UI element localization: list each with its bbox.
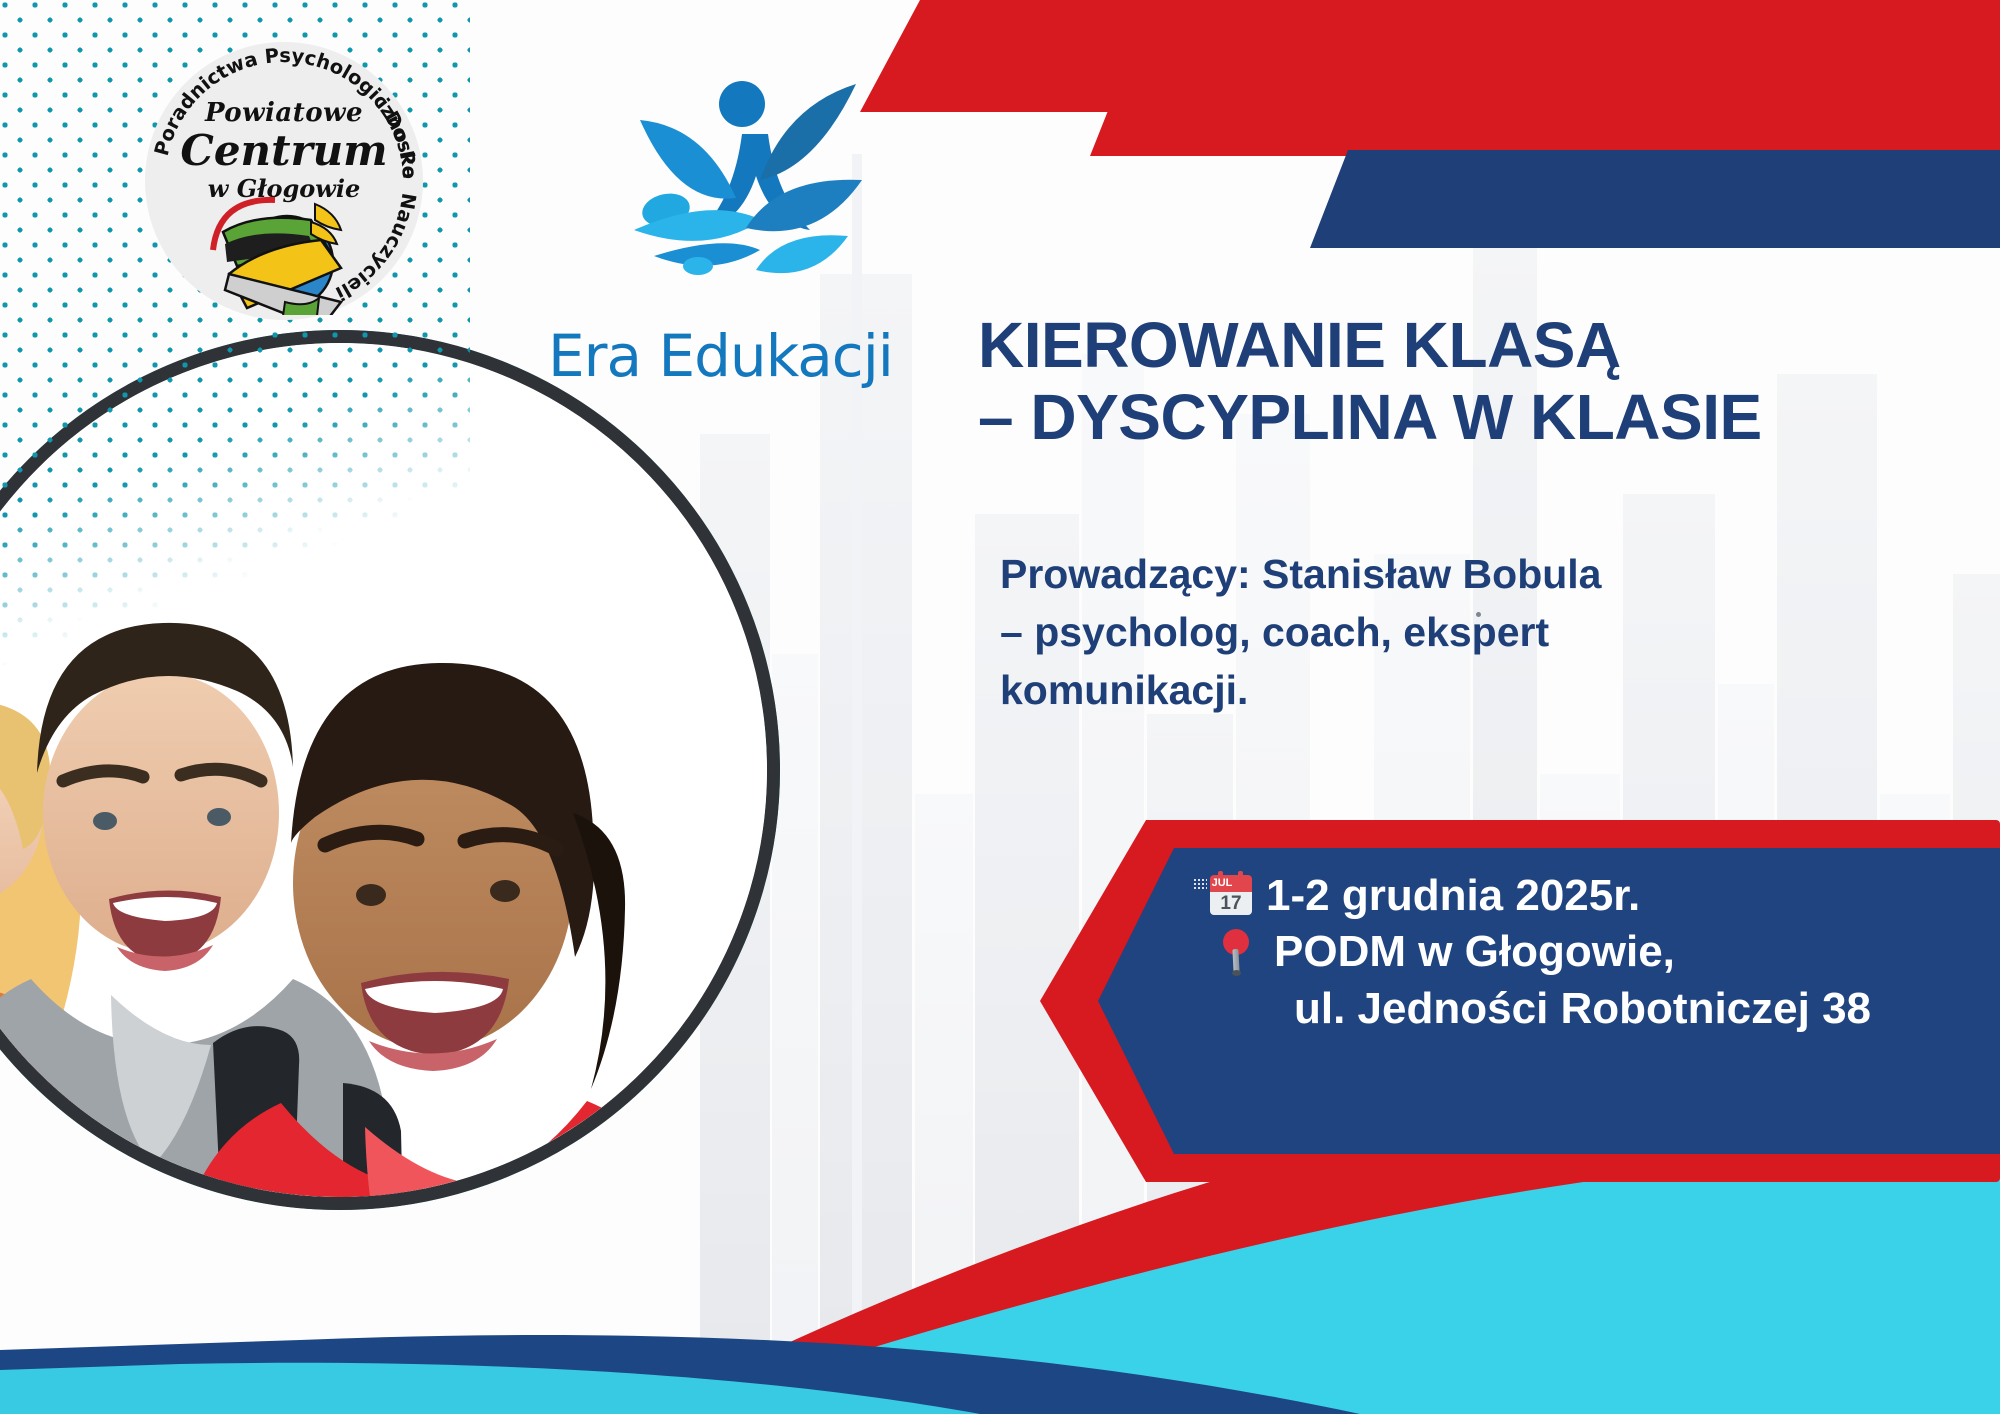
presenter-line-2: – psycholog, coach, ekspert (1000, 603, 1700, 661)
decorative-dot (1476, 612, 1481, 617)
details-content: JUL 17 1-2 grudnia 2025r. PODM w Głogowi… (1098, 868, 1978, 1037)
calendar-icon-month: JUL (1210, 875, 1234, 892)
pcppidn-seal: Poradnictwa Psychologiczno-Pedagogiczneg… (145, 42, 423, 320)
poster-canvas: Poradnictwa Psychologiczno-Pedagogiczneg… (0, 0, 2000, 1414)
page-title-line-2: – DYSCYPLINA W KLASIE (978, 382, 1988, 454)
navy-ribbon (1310, 150, 2000, 248)
human-figure-wings-icon (610, 60, 870, 300)
page-title: KIEROWANIE KLASĄ – DYSCYPLINA W KLASIE (978, 310, 1988, 453)
seal-center-text: Powiatowe Centrum w Głogowie (145, 98, 423, 203)
details-row-venue: PODM w Głogowie, (1098, 924, 1978, 980)
presenter-info: Prowadzący: Stanisław Bobula – psycholog… (1000, 545, 1700, 720)
calendar-icon: JUL 17 (1210, 871, 1254, 921)
presenter-line-1: Prowadzący: Stanisław Bobula (1000, 545, 1700, 603)
details-row-date: JUL 17 1-2 grudnia 2025r. (1098, 868, 1978, 924)
calendar-icon-day: 17 (1210, 892, 1252, 915)
event-date: 1-2 grudnia 2025r. (1266, 868, 1640, 924)
red-ribbon-large (1090, 0, 2000, 156)
presenter-line-3: komunikacji. (1000, 661, 1700, 719)
seal-line-1: Powiatowe (145, 98, 423, 128)
map-pin-icon (1218, 927, 1262, 977)
era-edukacji-wordmark: Era Edukacji (548, 322, 893, 390)
page-title-line-1: KIEROWANIE KLASĄ (978, 309, 1621, 381)
event-address: ul. Jedności Robotniczej 38 (1294, 981, 1871, 1037)
books-globe-graduation-cap-icon (199, 190, 369, 315)
event-venue: PODM w Głogowie, (1274, 924, 1675, 980)
details-row-address: ul. Jedności Robotniczej 38 (1098, 981, 1978, 1037)
seal-line-2: Centrum (145, 126, 423, 175)
